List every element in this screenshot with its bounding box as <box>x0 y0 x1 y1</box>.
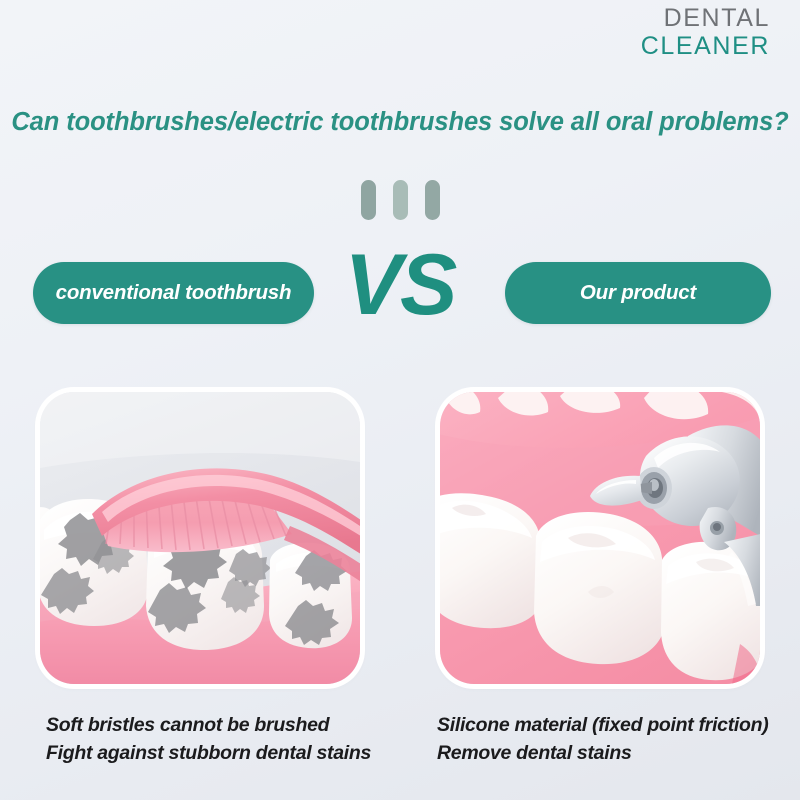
comparison-card-our-product <box>440 392 760 684</box>
page-headline: Can toothbrushes/electric toothbrushes s… <box>0 108 800 137</box>
pip-mark-3-icon <box>425 180 440 220</box>
comparison-header-row: conventional toothbrush VS Our product <box>0 262 800 342</box>
caption-our-product-line1: Silicone material (fixed point friction) <box>437 712 768 740</box>
caption-conventional: Soft bristles cannot be brushed Fight ag… <box>46 712 371 767</box>
brand-name-top: DENTAL <box>641 4 770 32</box>
image-toothbrush-on-stained-teeth <box>40 392 360 684</box>
caption-conventional-line2: Fight against stubborn dental stains <box>46 740 371 768</box>
caption-conventional-line1: Soft bristles cannot be brushed <box>46 712 371 740</box>
caption-our-product: Silicone material (fixed point friction)… <box>437 712 768 767</box>
divider-pips <box>0 180 800 220</box>
brand-lockup: DENTAL CLEANER <box>641 4 770 60</box>
image-dental-polisher-on-clean-teeth <box>440 392 760 684</box>
comparison-card-conventional <box>40 392 360 684</box>
label-pill-our-product: Our product <box>505 262 771 324</box>
pip-mark-1-icon <box>361 180 376 220</box>
pip-mark-2-icon <box>393 180 408 220</box>
caption-our-product-line2: Remove dental stains <box>437 740 768 768</box>
brand-name-bottom: CLEANER <box>641 32 770 60</box>
